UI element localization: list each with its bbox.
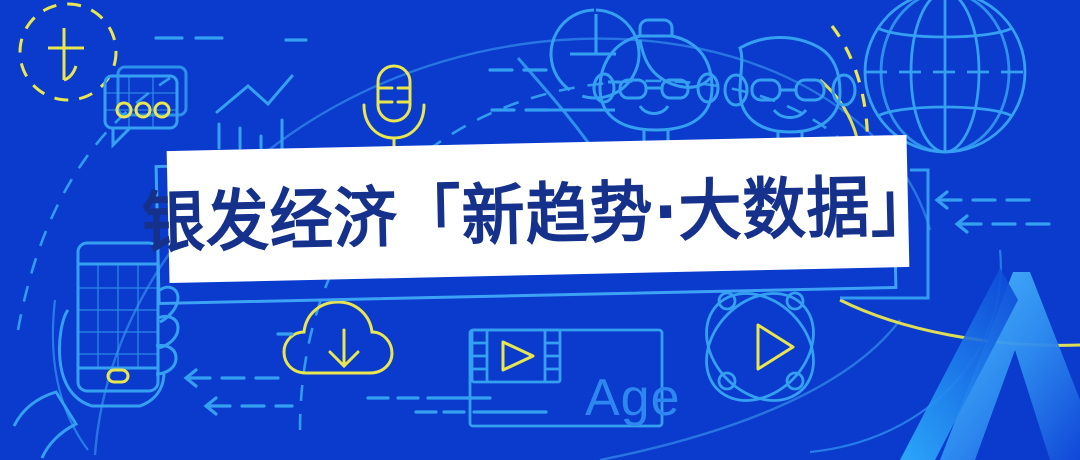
atom-play-triangle-icon	[758, 325, 793, 369]
cloud-download-icon	[284, 302, 392, 373]
banner-root: Age 银发经济「新趋势·大数据」	[0, 0, 1080, 460]
bar-chart-icon	[217, 76, 292, 148]
dashed-right-arrows-icon	[937, 192, 1049, 232]
phone-home-button-icon	[108, 370, 128, 382]
film-play-triangle-icon	[503, 342, 533, 370]
hand-phone-icon	[14, 243, 178, 458]
title-plate-surface: 银发经济「新趋势·大数据」	[167, 135, 910, 283]
page-title: 银发经济「新趋势·大数据」	[141, 152, 936, 266]
globe-icon	[865, 0, 1025, 152]
dashed-left-arrows-icon	[186, 370, 292, 414]
title-plate: 银发经济「新趋势·大数据」	[168, 143, 908, 283]
dashed-circle-cursor-icon	[20, 4, 116, 100]
age-watermark-text: Age	[585, 368, 681, 428]
film-strip-frame-icon	[472, 330, 560, 382]
dash-segments-top	[156, 38, 548, 110]
atom-play-icon	[685, 272, 835, 422]
microphone-icon	[364, 66, 424, 152]
